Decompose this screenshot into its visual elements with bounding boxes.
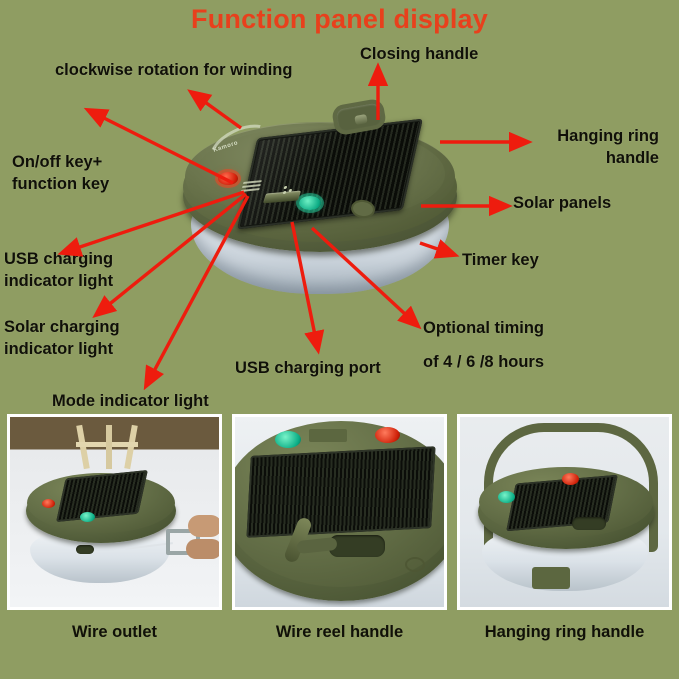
photo-wire-reel-handle xyxy=(232,414,447,610)
mode-indicator-leds xyxy=(282,186,299,194)
photo-caption-hanging-ring-handle: Hanging ring handle xyxy=(457,623,672,642)
callout-closing-handle: Closing handle xyxy=(360,44,478,66)
photo-caption-wire-outlet: Wire outlet xyxy=(7,623,222,642)
callout-usb-charging-indicator: USB charging indicator light xyxy=(4,249,113,293)
infographic-canvas: Function panel display Kamoro clockwise … xyxy=(0,0,679,679)
callout-optional-timing-hours: of 4 / 6 /8 hours xyxy=(423,352,544,374)
mini-lantern-3 xyxy=(460,417,669,607)
main-product-image: Kamoro xyxy=(155,82,485,317)
photo-cell-wire-outlet: Wire outlet xyxy=(7,414,222,642)
callout-solar-panels: Solar panels xyxy=(513,193,611,215)
timer-button[interactable] xyxy=(299,196,321,210)
callout-mode-indicator: Mode indicator light xyxy=(52,391,209,413)
callout-optional-timing: Optional timing xyxy=(423,318,544,340)
photo-cell-wire-reel-handle: Wire reel handle xyxy=(232,414,447,642)
photo-strip: Wire outlet Wire xyxy=(0,414,679,679)
callout-on-off-function-key: On/off key+ function key xyxy=(12,152,109,196)
callout-clockwise-rotation: clockwise rotation for winding xyxy=(55,60,292,82)
page-title: Function panel display xyxy=(0,4,679,35)
photo-cell-hanging-ring-handle: Hanging ring handle xyxy=(457,414,672,642)
mini-lantern-2 xyxy=(235,417,444,607)
callout-timer-key: Timer key xyxy=(462,250,539,272)
callout-hanging-ring-handle: Hanging ring handle xyxy=(403,126,659,170)
photo-hanging-ring-handle xyxy=(457,414,672,610)
photo-wire-outlet xyxy=(7,414,222,610)
callout-solar-charging-indicator: Solar charging indicator light xyxy=(4,317,120,361)
indicator-led-strip xyxy=(240,180,262,195)
mini-lantern-1 xyxy=(10,417,219,607)
callout-usb-charging-port: USB charging port xyxy=(235,358,381,380)
power-function-button[interactable] xyxy=(218,172,238,185)
photo-caption-wire-reel-handle: Wire reel handle xyxy=(232,623,447,642)
